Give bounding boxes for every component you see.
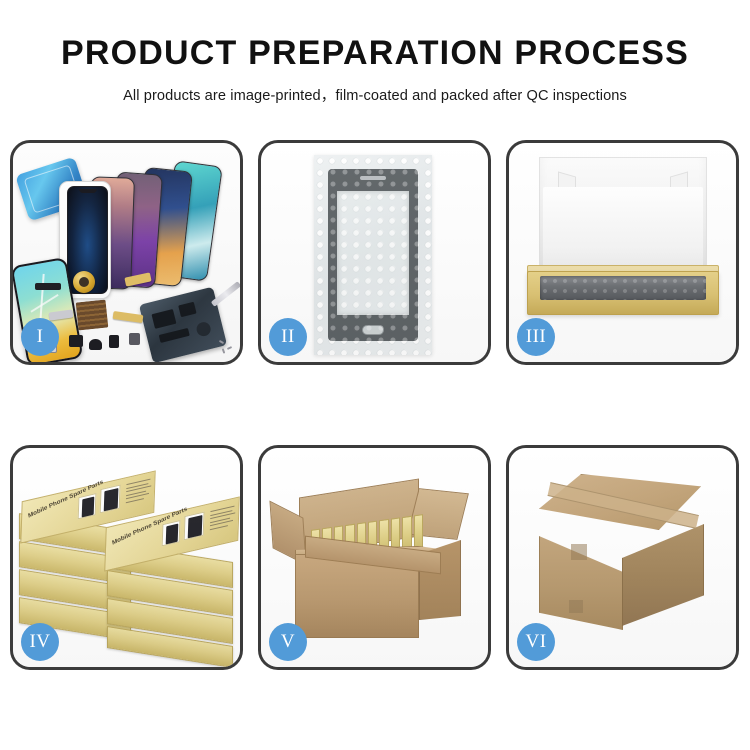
header: PRODUCT PREPARATION PROCESS All products… (0, 0, 750, 105)
step-badge-2: II (269, 318, 307, 356)
small-part-icon (129, 333, 140, 345)
small-part-icon (35, 283, 61, 290)
bubble-wrap-icon (314, 155, 432, 355)
step-panel-3: III (506, 140, 739, 365)
kraft-box-icon (527, 271, 719, 315)
product-preparation-infographic: PRODUCT PREPARATION PROCESS All products… (0, 0, 750, 750)
foam-padding-icon (543, 187, 703, 273)
home-button-icon (362, 325, 384, 335)
step-badge-1: I (21, 318, 59, 356)
wrapped-screen-in-box-icon (540, 276, 706, 300)
small-part-icon (109, 335, 119, 348)
step-panel-5: V (258, 445, 491, 670)
step-badge-6: VI (517, 623, 555, 661)
phone-glass-panel-icon (328, 169, 418, 341)
carton-seam-icon (571, 544, 587, 560)
step-badge-5: V (269, 623, 307, 661)
step-panel-2: II (258, 140, 491, 365)
step-panel-4: Mobile Phone Spare Parts (10, 445, 243, 670)
step-panel-6: VI (506, 445, 739, 670)
process-step-grid: I II (10, 140, 740, 670)
step-badge-3: III (517, 318, 555, 356)
chip-array-part-icon (76, 300, 109, 331)
screws-icon (219, 339, 239, 355)
step-badge-4: IV (21, 623, 59, 661)
small-part-icon (89, 339, 102, 350)
small-part-icon (69, 335, 83, 347)
carton-seam-icon (569, 600, 583, 613)
page-subtitle: All products are image-printed，film-coat… (0, 84, 750, 105)
page-title: PRODUCT PREPARATION PROCESS (0, 36, 750, 72)
copper-coil-part-icon (73, 271, 95, 293)
step-panel-1: I (10, 140, 243, 365)
